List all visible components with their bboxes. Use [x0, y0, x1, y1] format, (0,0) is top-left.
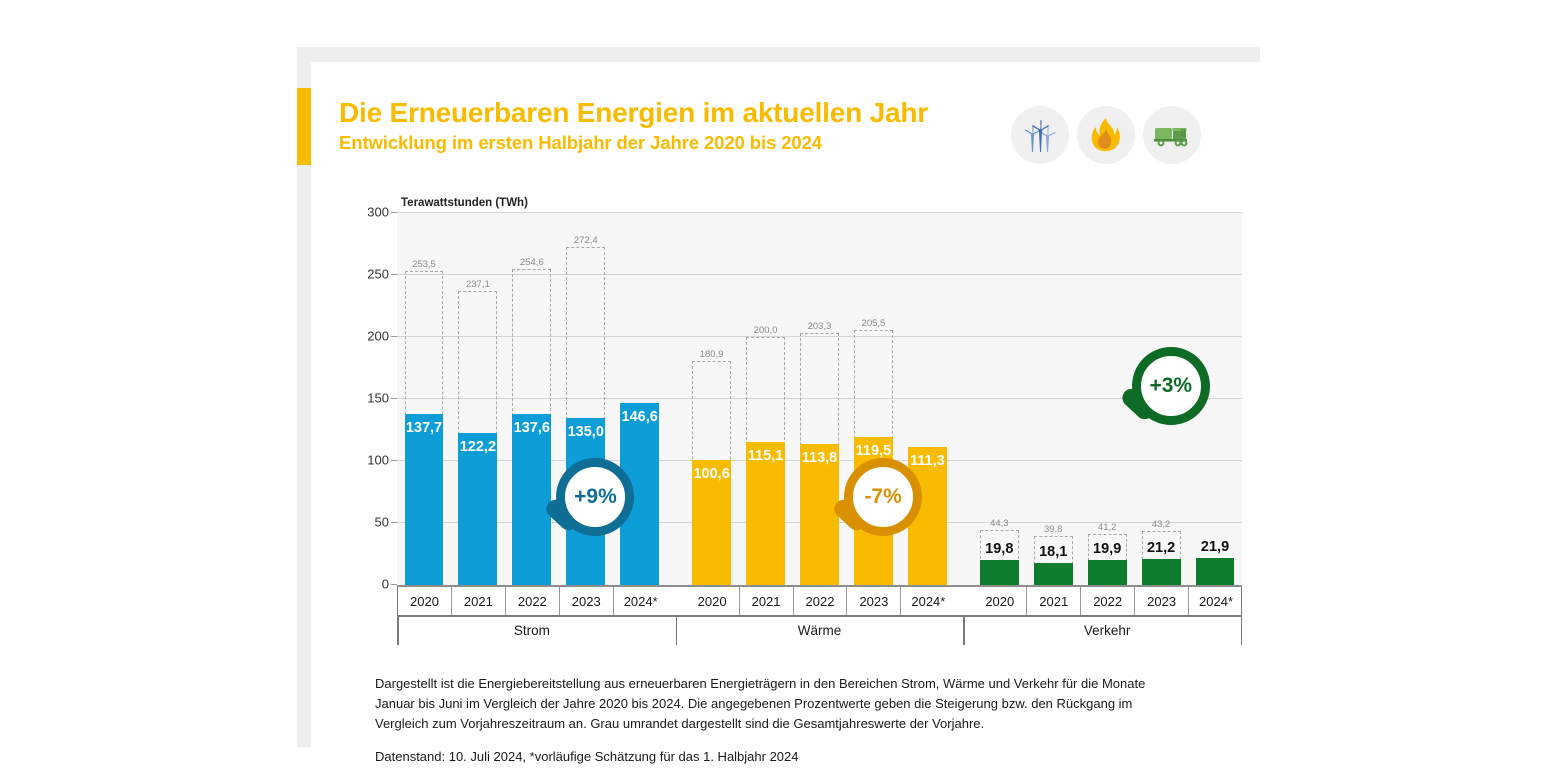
y-axis-caption: Terawattstunden (TWh) — [401, 197, 528, 209]
bar-wärme-2021: 200,0115,1 — [746, 442, 785, 585]
x-axis-label-2021: 2021 — [452, 587, 506, 615]
group-separator — [676, 615, 678, 645]
bar-value-label: 100,6 — [692, 466, 731, 482]
bar-verkehr-2021: 39,818,1 — [1034, 563, 1073, 585]
percent-change-label: -7% — [864, 485, 901, 509]
change-badge-verkehr: +3% — [1118, 347, 1210, 439]
x-axis-year-row: 20202021202220232024*2020202120222023202… — [397, 587, 1242, 615]
bar-strom-2020: 253,5137,7 — [405, 414, 444, 585]
bar-value-label: 119,5 — [854, 443, 893, 459]
x-axis-label-2024: 2024* — [1189, 587, 1243, 615]
x-axis-label-2022: 2022 — [506, 587, 560, 615]
frame-top-strip — [297, 47, 1260, 62]
annual-total-label: 254,6 — [513, 257, 550, 268]
x-axis-label-2022: 2022 — [1081, 587, 1135, 615]
x-axis-label-2021: 2021 — [740, 587, 794, 615]
annual-total-label: 43,2 — [1143, 519, 1180, 530]
percent-change-label: +3% — [1149, 374, 1192, 398]
magnifier-lens-icon: +9% — [556, 458, 634, 536]
annual-total-label: 205,5 — [855, 318, 892, 329]
bar-chart: Terawattstunden (TWh) 050100150200250300… — [333, 197, 1245, 657]
x-axis-label-2024: 2024* — [901, 587, 955, 615]
y-axis-tick-mark — [391, 336, 397, 337]
data-source-note: Datenstand: 10. Juli 2024, *vorläufige S… — [375, 749, 1185, 764]
bar-value-label: 122,2 — [458, 439, 497, 455]
annual-total-label: 44,3 — [981, 518, 1018, 529]
footnotes: Dargestellt ist die Energiebereitstellun… — [375, 674, 1185, 764]
annual-total-label: 41,2 — [1089, 522, 1126, 533]
bar-fill — [1034, 563, 1073, 585]
bar-value-label: 146,6 — [620, 409, 659, 425]
bar-value-label: 21,9 — [1196, 539, 1235, 555]
annual-total-label: 203,3 — [801, 321, 838, 332]
flame-icon — [1077, 106, 1135, 164]
bar-fill — [1142, 559, 1181, 585]
magnifier-lens-icon: -7% — [844, 458, 922, 536]
y-axis-tick-mark — [391, 274, 397, 275]
percent-change-label: +9% — [574, 485, 617, 509]
bar-value-label: 115,1 — [746, 448, 785, 464]
bar-fill — [1196, 558, 1235, 585]
bar-verkehr-2023: 43,221,2 — [1142, 559, 1181, 585]
annual-total-label: 39,8 — [1035, 524, 1072, 535]
x-axis-label-2020: 2020 — [398, 587, 452, 615]
x-axis-label-2023: 2023 — [847, 587, 901, 615]
accent-bar — [297, 88, 311, 165]
bar-value-label: 21,2 — [1142, 540, 1181, 556]
gridline: 300 — [397, 212, 1242, 213]
annual-total-label: 237,1 — [459, 279, 496, 290]
truck-icon — [1143, 106, 1201, 164]
bar-fill — [1088, 560, 1127, 585]
bar-strom-2021: 237,1122,2 — [458, 433, 497, 585]
y-axis-tick-label: 50 — [375, 515, 389, 530]
bar-fill — [458, 433, 497, 585]
group-label-strom: Strom — [397, 615, 667, 645]
x-axis-label-2020: 2020 — [973, 587, 1027, 615]
y-axis-tick-mark — [391, 522, 397, 523]
y-axis-tick-label: 150 — [367, 391, 389, 406]
bar-value-label: 19,9 — [1088, 541, 1127, 557]
annual-total-label: 200,0 — [747, 325, 784, 336]
x-axis-label-2020: 2020 — [686, 587, 740, 615]
y-axis-tick-mark — [391, 212, 397, 213]
magnifier-lens-icon: +3% — [1132, 347, 1210, 425]
group-separator — [1241, 615, 1243, 645]
x-axis-label-2022: 2022 — [794, 587, 848, 615]
bar-fill — [405, 414, 444, 585]
y-axis-tick-label: 100 — [367, 453, 389, 468]
infographic-page: Die Erneuerbaren Energien im aktuellen J… — [0, 0, 1545, 775]
content-area: Die Erneuerbaren Energien im aktuellen J… — [311, 62, 1260, 762]
x-axis-label-2024: 2024* — [614, 587, 668, 615]
wind-turbine-icon — [1011, 106, 1069, 164]
group-separator — [963, 615, 965, 645]
y-axis-tick-label: 200 — [367, 329, 389, 344]
bar-value-label: 18,1 — [1034, 544, 1073, 560]
annual-total-label: 180,9 — [693, 349, 730, 360]
bar-value-label: 137,7 — [405, 420, 444, 436]
change-badge-wärme: -7% — [830, 458, 922, 550]
bar-wärme-2020: 180,9100,6 — [692, 460, 731, 585]
x-axis-label-2023: 2023 — [560, 587, 614, 615]
description-paragraph: Dargestellt ist die Energiebereitstellun… — [375, 674, 1185, 733]
bar-verkehr-2022: 41,219,9 — [1088, 560, 1127, 585]
bar-fill — [980, 560, 1019, 585]
bar-value-label: 19,8 — [980, 541, 1019, 557]
x-axis-label-2021: 2021 — [1027, 587, 1081, 615]
y-axis-tick-label: 250 — [367, 267, 389, 282]
y-axis-tick-mark — [391, 398, 397, 399]
change-badge-strom: +9% — [542, 458, 634, 550]
bar-verkehr-2024: 21,9 — [1196, 558, 1235, 585]
group-separator — [397, 615, 399, 645]
icon-row — [1011, 106, 1201, 164]
y-axis-tick-label: 0 — [382, 577, 389, 592]
annual-total-label: 253,5 — [406, 259, 443, 270]
y-axis-tick-label: 300 — [367, 205, 389, 220]
plot-area: 050100150200250300253,5137,7237,1122,225… — [397, 213, 1242, 585]
x-axis-group-row: StromWärmeVerkehr — [397, 615, 1242, 645]
bar-value-label: 137,6 — [512, 420, 551, 436]
annual-total-label: 272,4 — [567, 235, 604, 246]
x-axis-label-2023: 2023 — [1135, 587, 1189, 615]
bar-value-label: 135,0 — [566, 424, 605, 440]
group-label-wärme: Wärme — [685, 615, 955, 645]
bar-verkehr-2020: 44,319,8 — [980, 560, 1019, 585]
y-axis-tick-mark — [391, 460, 397, 461]
group-label-verkehr: Verkehr — [972, 615, 1242, 645]
